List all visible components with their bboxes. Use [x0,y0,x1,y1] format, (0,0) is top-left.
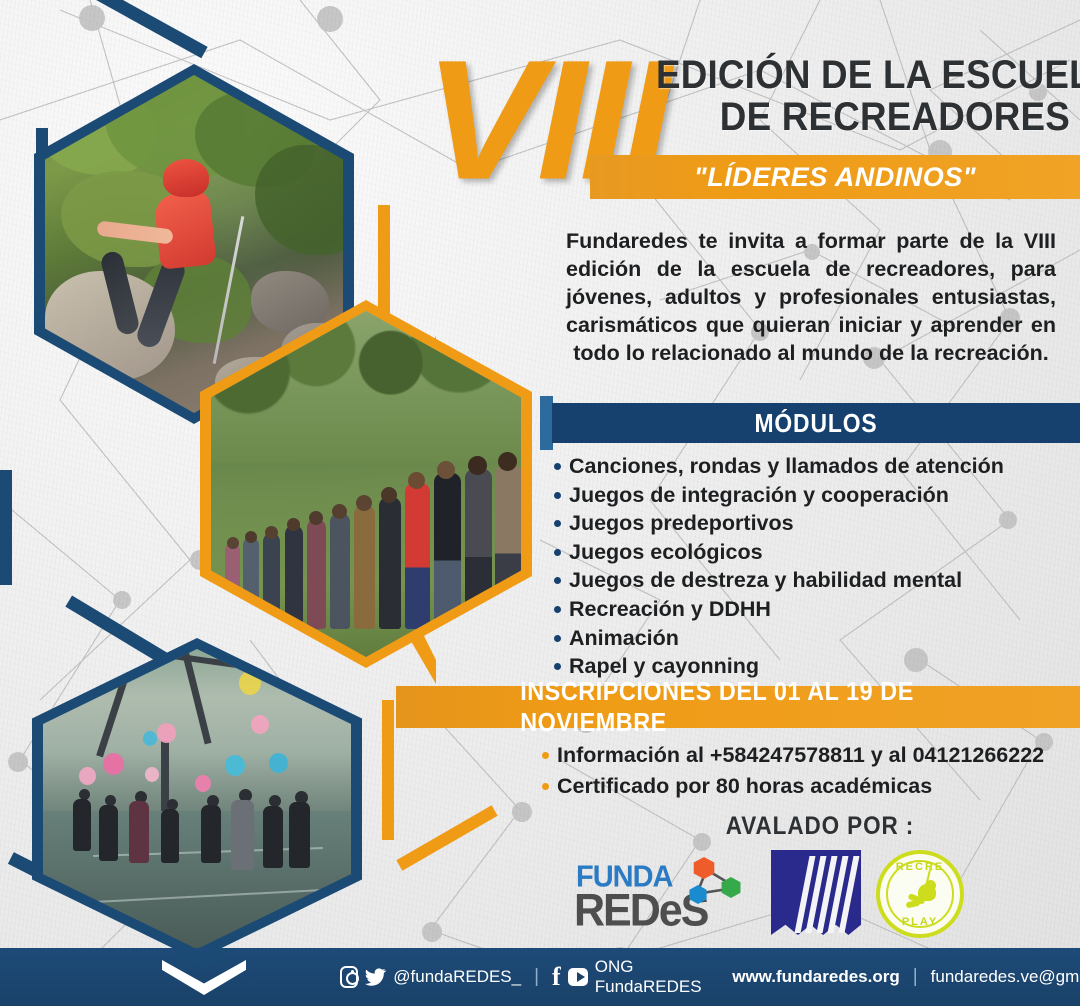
book-pages-logo [771,850,861,935]
footer-divider-2: | [913,966,918,988]
list-item: Juegos de integración y cooperación [552,481,1072,510]
endorsement-heading: AVALADO POR : [640,812,1000,841]
recre-play-top-text: RECRE [880,861,960,873]
molecule-links [682,857,752,909]
footer-bar: @fundaREDES_ | f ONG FundaREDES www.fund… [0,948,1080,1006]
website-link[interactable]: www.fundaredes.org [732,967,900,987]
modules-heading-bar: MÓDULOS [552,403,1080,443]
chevron-down-icon [158,956,250,996]
endorsement-logos: FUNDA REDeS RECRE PLAY [566,845,1066,940]
subtitle-band: "LÍDERES ANDINOS" [590,155,1080,199]
list-item: Juegos predeportivos [552,509,1072,538]
twitter-icon[interactable] [365,966,386,988]
photo-frame-group [200,300,532,668]
fundaredes-logo: FUNDA REDeS [576,855,756,935]
intro-paragraph: Fundaredes te invita a formar parte de l… [566,228,1056,368]
recre-play-bottom-text: PLAY [880,916,960,928]
contact-list: Información al +584247578811 y al 041212… [540,740,1080,802]
instagram-icon[interactable] [340,966,358,988]
list-item: Recreación y DDHH [552,595,1072,624]
accent-bar-orange-lower [382,700,394,840]
list-item: Juegos ecológicos [552,538,1072,567]
inscriptions-banner: INSCRIPCIONES DEL 01 AL 19 DE NOVIEMBRE [396,686,1080,728]
list-item: Certificado por 80 horas académicas [540,771,1080,802]
modules-heading: MÓDULOS [584,403,1049,443]
photo-frame-court [32,638,362,960]
footer-content: @fundaREDES_ | f ONG FundaREDES www.fund… [340,948,1080,1006]
list-item: Canciones, rondas y llamados de atención [552,452,1072,481]
rappel-figure-icon [906,880,942,914]
page-title: EDICIÓN DE LA ESCUELA DE RECREADORES [656,54,1070,139]
recre-play-logo: RECRE PLAY [876,850,964,938]
list-item: Animación [552,624,1072,653]
footer-divider-1: | [534,966,539,988]
social-handle-primary[interactable]: @fundaREDES_ [393,967,521,987]
inscriptions-banner-text: INSCRIPCIONES DEL 01 AL 19 DE NOVIEMBRE [430,686,1046,728]
modules-list: Canciones, rondas y llamados de atención… [552,452,1072,681]
title-line-1: EDICIÓN DE LA ESCUELA [656,54,1070,96]
title-line-2: DE RECREADORES [656,96,1070,138]
accent-bar-left-vertical-2 [0,470,12,585]
youtube-icon[interactable] [568,968,588,986]
social-handle-secondary[interactable]: ONG FundaREDES [595,957,715,997]
poster-canvas: VIII EDICIÓN DE LA ESCUELA DE RECREADORE… [0,0,1080,1006]
list-item: Juegos de destreza y habilidad mental [552,566,1072,595]
facebook-icon[interactable]: f [552,964,561,990]
email-link[interactable]: fundaredes.ve@gmail.com [931,967,1080,987]
list-item: Información al +584247578811 y al 041212… [540,740,1080,771]
subtitle-text: "LÍDERES ANDINOS" [590,155,1080,199]
